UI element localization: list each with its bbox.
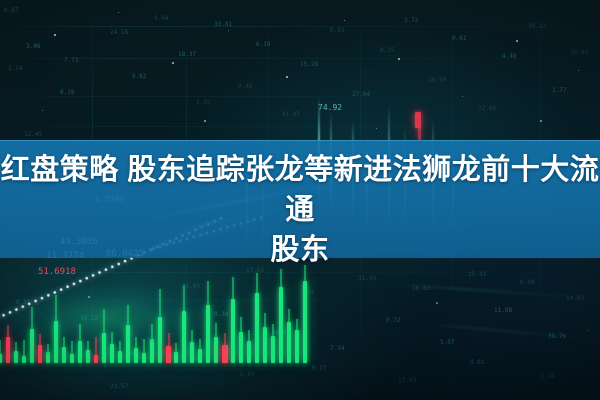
headline-line-1: 红盘策略 股东追踪张龙等新进法狮龙前十大流通 [1, 154, 600, 226]
news-banner: 0.87 1.24 3.06 12.45 0.19 1.2397 7.73 24… [0, 0, 600, 400]
headline-line-2: 股东 [0, 230, 600, 270]
headline-band-edge [0, 140, 600, 141]
page-title: 红盘策略 股东追踪张龙等新进法狮龙前十大流通 股东 [0, 150, 600, 270]
